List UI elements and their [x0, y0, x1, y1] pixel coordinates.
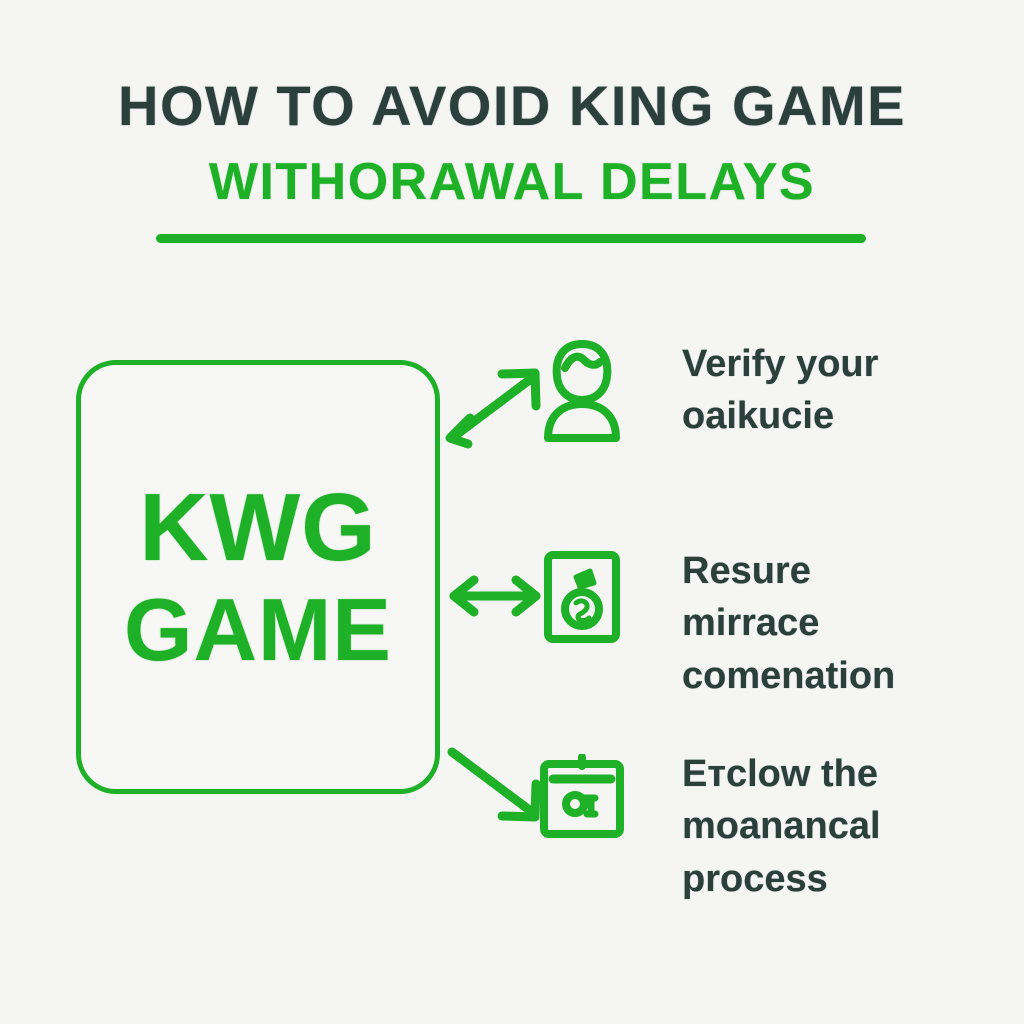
brand-logo-line-2: GAME	[124, 586, 392, 674]
title-line-secondary: WITHORAWAL DELAYS	[0, 156, 1024, 208]
list-item-text-line: mirrace	[682, 597, 895, 649]
list-item: Eтclow the moanancal process	[534, 748, 881, 905]
list-item-text: Resure mirrace comenation	[682, 545, 895, 702]
list-item-text-line: Resure	[682, 545, 895, 597]
user-person-icon	[534, 338, 630, 442]
list-item-text-line: moanancal	[682, 800, 881, 852]
list-item-text: Eтclow the moanancal process	[682, 748, 881, 905]
brand-logo-box: KWG GAME	[76, 360, 440, 794]
list-item-text-line: Eтclow the	[682, 748, 881, 800]
list-item-text-line: comenation	[682, 650, 895, 702]
brand-logo-line-1: KWG	[139, 480, 377, 576]
list-item-text-line: oaikucie	[682, 390, 878, 442]
list-item: Verify your oaikucie	[534, 338, 878, 443]
infographic-canvas: HOW TO AVOID KING GAME WITHORAWAL DELAYS…	[0, 0, 1024, 1024]
document-coin-icon	[534, 545, 630, 649]
title-block: HOW TO AVOID KING GAME WITHORAWAL DELAYS	[0, 78, 1024, 208]
list-item-text-line: process	[682, 853, 881, 905]
list-item-text: Verify your oaikucie	[682, 338, 878, 443]
list-item: Resure mirrace comenation	[534, 545, 895, 702]
title-line-primary: HOW TO AVOID KING GAME	[0, 78, 1024, 134]
list-item-text-line: Verify your	[682, 338, 878, 390]
title-underline-rule	[156, 234, 866, 243]
browser-window-icon	[534, 748, 630, 852]
